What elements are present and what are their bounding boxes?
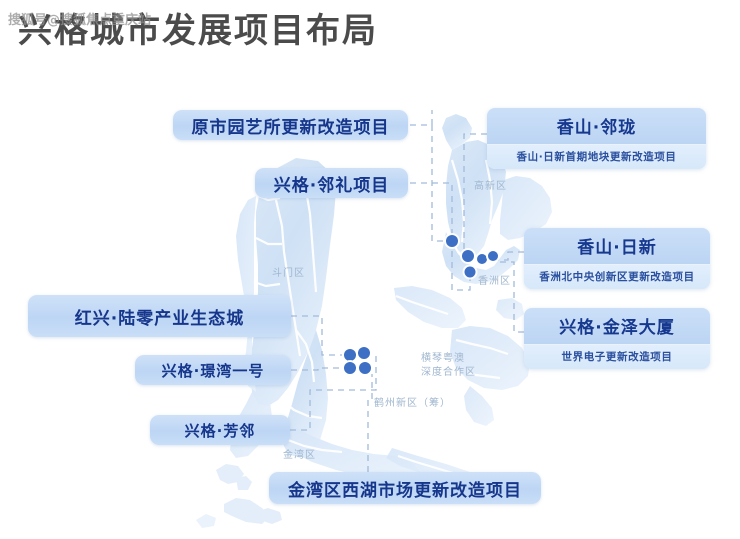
label-hongxing-luling-eco-city[interactable]: 红兴·陆零产业生态城 <box>28 295 291 337</box>
card-xiangshan-rixin-subtitle: 香洲北中央创新区更新改造项目 <box>524 265 710 289</box>
label-xingge-linli-project[interactable]: 兴格·邻礼项目 <box>255 168 408 198</box>
xiangzhou-district-line-1: 香洲区 <box>478 275 511 289</box>
hezhou-new-district-line-1: 鹤州新区（筹） <box>374 397 451 411</box>
card-xiangshan-rixin-title: 香山·日新 <box>524 228 710 265</box>
poster-canvas: 高新区斗门区香洲区横琴粤澳深度合作区鹤州新区（筹）金湾区 原市园艺所更新改造项目… <box>0 0 740 539</box>
label-yuanshi-yuanyisuo-project[interactable]: 原市园艺所更新改造项目 <box>173 110 408 140</box>
hezhou-new-district: 鹤州新区（筹） <box>374 397 451 411</box>
card-xiangshan-rixin[interactable]: 香山·日新香洲北中央创新区更新改造项目 <box>524 228 710 289</box>
label-hongxing-luling-eco-city-text: 红兴·陆零产业生态城 <box>75 304 244 329</box>
gaoxin-district: 高新区 <box>474 180 507 194</box>
hengqin-cooperation-zone-line-1: 横琴粤澳 <box>421 352 476 366</box>
jinwan-district: 金湾区 <box>283 449 316 463</box>
label-xingge-jingwan-no1-text: 兴格·璟湾一号 <box>162 360 265 381</box>
gaoxin-district-line-1: 高新区 <box>474 180 507 194</box>
label-jinwan-xihu-market-project[interactable]: 金湾区西湖市场更新改造项目 <box>269 472 541 504</box>
card-xiangshan-linlong[interactable]: 香山·邻珑香山·日新首期地块更新改造项目 <box>487 108 706 169</box>
label-xingge-jingwan-no1[interactable]: 兴格·璟湾一号 <box>135 355 291 385</box>
card-xingge-jinze-tower[interactable]: 兴格·金泽大厦世界电子更新改造项目 <box>524 308 710 369</box>
jinwan-district-line-1: 金湾区 <box>283 449 316 463</box>
hengqin-cooperation-zone: 横琴粤澳深度合作区 <box>421 352 476 379</box>
label-xingge-linli-project-text: 兴格·邻礼项目 <box>274 171 389 196</box>
card-xiangshan-linlong-title: 香山·邻珑 <box>487 108 706 145</box>
label-yuanshi-yuanyisuo-project-text: 原市园艺所更新改造项目 <box>192 113 390 138</box>
doumen-district: 斗门区 <box>272 267 305 281</box>
label-jinwan-xihu-market-project-text: 金湾区西湖市场更新改造项目 <box>288 476 522 501</box>
card-xingge-jinze-tower-title: 兴格·金泽大厦 <box>524 308 710 345</box>
label-xingge-fanglin-text: 兴格·芳邻 <box>185 420 256 441</box>
hengqin-cooperation-zone-line-2: 深度合作区 <box>421 366 476 380</box>
label-xingge-fanglin[interactable]: 兴格·芳邻 <box>150 415 290 445</box>
doumen-district-line-1: 斗门区 <box>272 267 305 281</box>
card-xingge-jinze-tower-subtitle: 世界电子更新改造项目 <box>524 345 710 369</box>
card-xiangshan-linlong-subtitle: 香山·日新首期地块更新改造项目 <box>487 145 706 169</box>
xiangzhou-district: 香洲区 <box>478 275 511 289</box>
watermark: 搜狐号@搜狐焦点重庆站 <box>8 9 151 28</box>
